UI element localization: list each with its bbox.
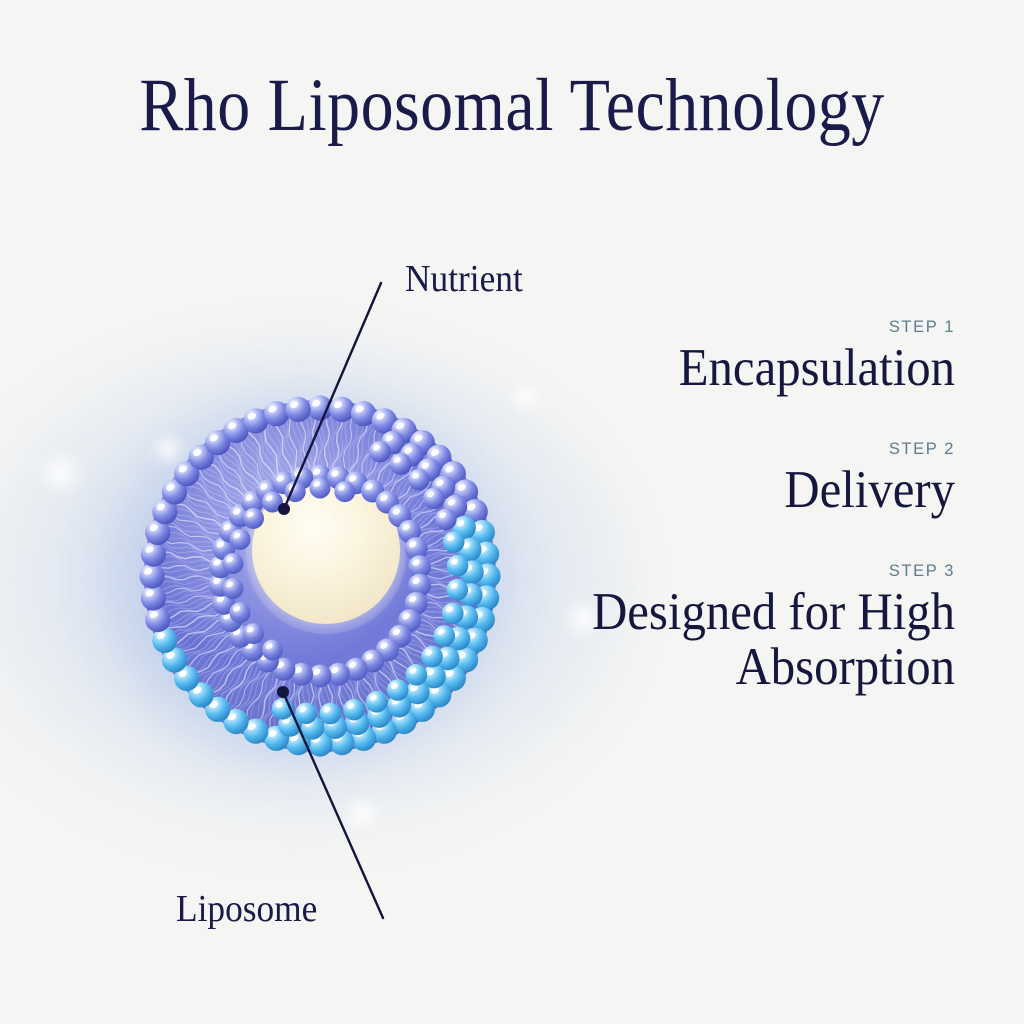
step-title-1: Encapsulation bbox=[559, 341, 955, 396]
step-kicker-1: STEP 1 bbox=[525, 318, 955, 337]
step-kicker-2: STEP 2 bbox=[525, 440, 955, 459]
step-item-2: STEP 2 Delivery bbox=[525, 440, 955, 518]
callout-label-nutrient: Nutrient bbox=[405, 260, 523, 298]
step-title-2: Delivery bbox=[559, 463, 955, 518]
step-item-3: STEP 3 Designed for High Absorption bbox=[525, 562, 955, 695]
leader-line-liposome bbox=[283, 692, 383, 918]
callout-label-liposome: Liposome bbox=[176, 890, 317, 928]
infographic-canvas: Rho Liposomal Technology Nutrient Liposo… bbox=[0, 0, 1024, 1024]
leader-line-nutrient bbox=[284, 283, 381, 509]
leader-dot-nutrient bbox=[278, 503, 290, 515]
leader-dot-liposome bbox=[277, 686, 289, 698]
step-title-3: Designed for High Absorption bbox=[559, 585, 955, 695]
page-title: Rho Liposomal Technology bbox=[61, 68, 962, 143]
steps-list: STEP 1 Encapsulation STEP 2 Delivery STE… bbox=[525, 318, 955, 695]
step-item-1: STEP 1 Encapsulation bbox=[525, 318, 955, 396]
step-kicker-3: STEP 3 bbox=[525, 562, 955, 581]
